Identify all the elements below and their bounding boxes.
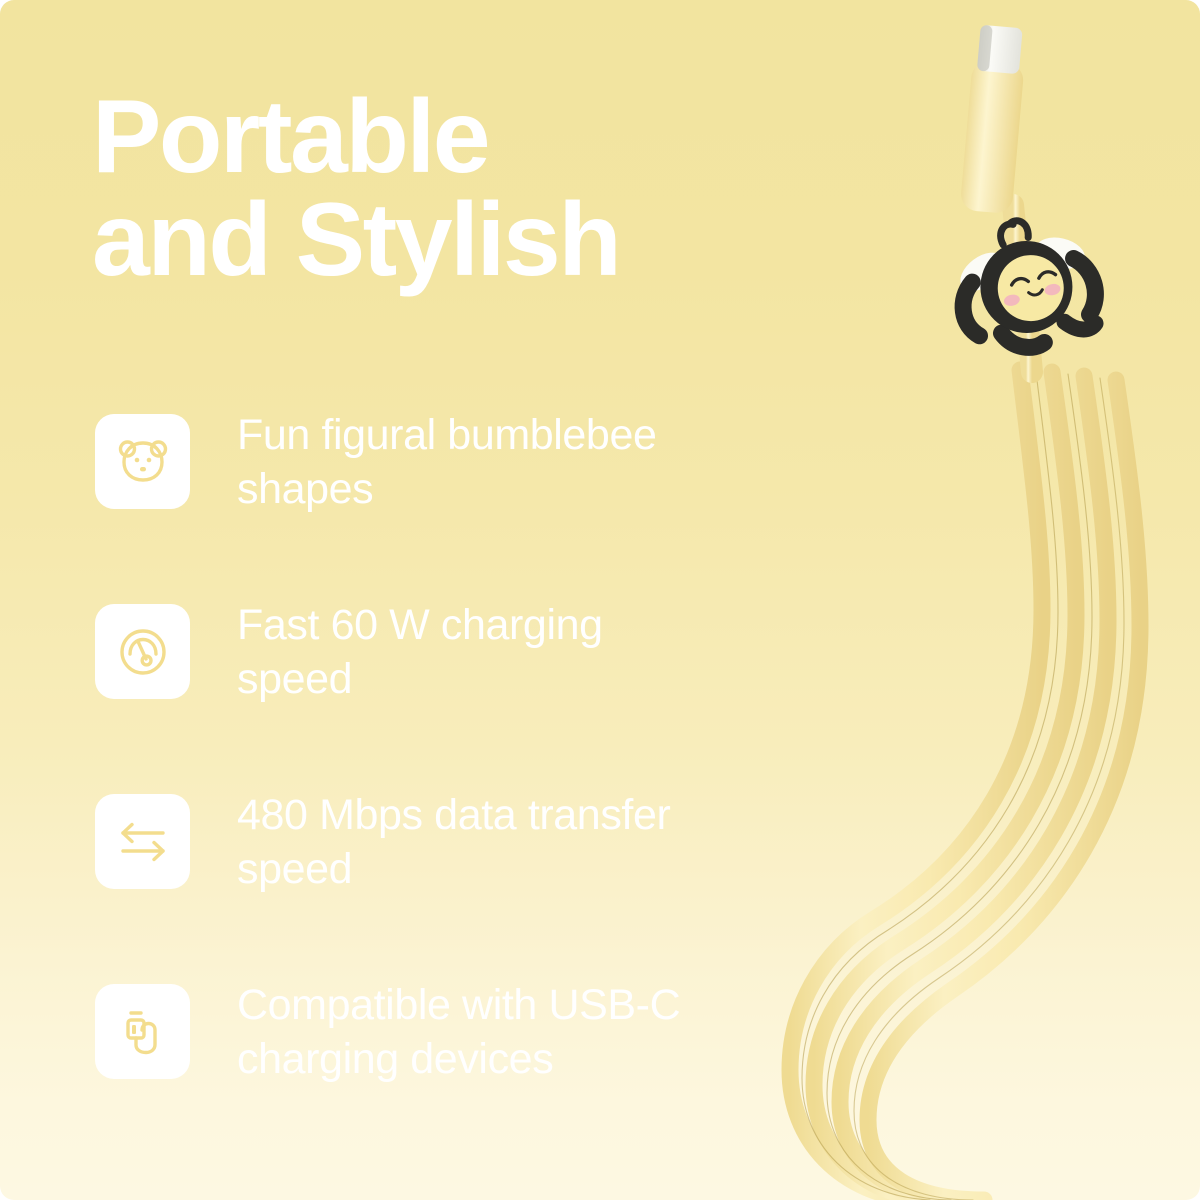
data-transfer-arrows-icon [114,813,172,871]
charm-wing-right [1032,233,1087,273]
bumblebee-charm [945,207,1106,360]
feature-icon-card [95,604,190,699]
charm-blush-right [1044,283,1062,297]
page-title: Portable and Stylish [92,86,912,292]
feature-label: 480 Mbps data transfer speed [237,788,877,896]
feature-row: Compatible with USB-C charging devices [95,984,895,1174]
product-feature-poster: Portable and Stylish [0,0,1200,1200]
speedometer-gauge-icon [114,623,172,681]
bear-face-icon [114,433,172,491]
feature-icon-card [95,794,190,889]
usb-c-connector [960,24,1028,214]
usb-cable-plug-icon [114,1003,172,1061]
feature-label: Fast 60 W charging speed [237,598,877,706]
feature-row: Fun figural bumblebee shapes [95,414,895,604]
charm-face [992,249,1070,327]
feature-label: Compatible with USB-C charging devices [237,978,877,1086]
cable-lower-segment [1026,300,1032,372]
feature-label: Fun figural bumblebee shapes [237,408,877,516]
feature-icon-card [95,414,190,509]
feature-list: Fun figural bumblebee shapes Fast 60 W c… [95,414,895,1174]
charm-blush-left [1003,293,1021,307]
charm-wing-left [953,245,1011,299]
feature-row: 480 Mbps data transfer speed [95,794,895,984]
feature-row: Fast 60 W charging speed [95,604,895,794]
cable-upper-segment [1013,205,1020,268]
feature-icon-card [95,984,190,1079]
